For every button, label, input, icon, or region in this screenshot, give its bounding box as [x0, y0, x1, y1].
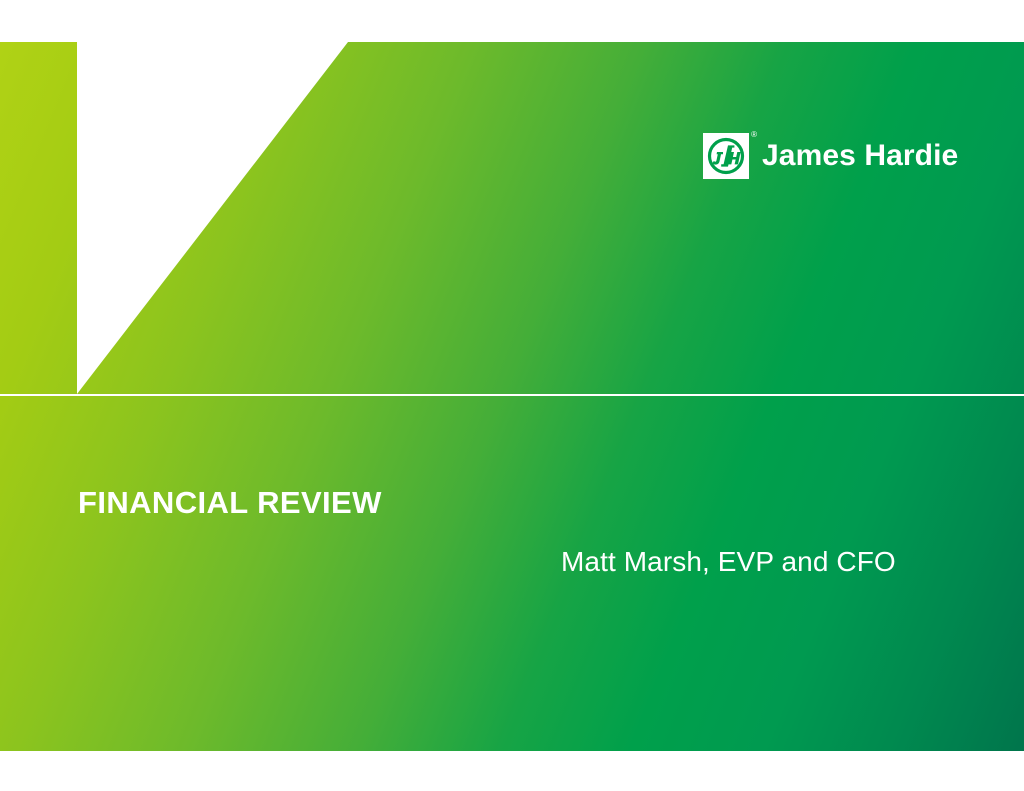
- slide-header-graphic: ® James Hardie: [0, 42, 1024, 394]
- page-title: FINANCIAL REVIEW: [78, 486, 382, 520]
- jh-monogram-icon: ®: [703, 133, 749, 179]
- title-slide: ® James Hardie FINANCIAL REVIEW Matt Mar…: [0, 42, 1024, 751]
- presenter-name: Matt Marsh, EVP and CFO: [561, 547, 896, 578]
- accent-bar-left: [0, 42, 77, 394]
- brand-gradient-fill: [0, 42, 1024, 394]
- registered-trademark-icon: ®: [751, 131, 757, 139]
- brand-name: James Hardie: [758, 141, 958, 171]
- james-hardie-logo: ® James Hardie: [703, 133, 958, 179]
- diagonal-wedge-graphic: [0, 42, 1024, 394]
- brand-gradient-fill: [0, 42, 77, 394]
